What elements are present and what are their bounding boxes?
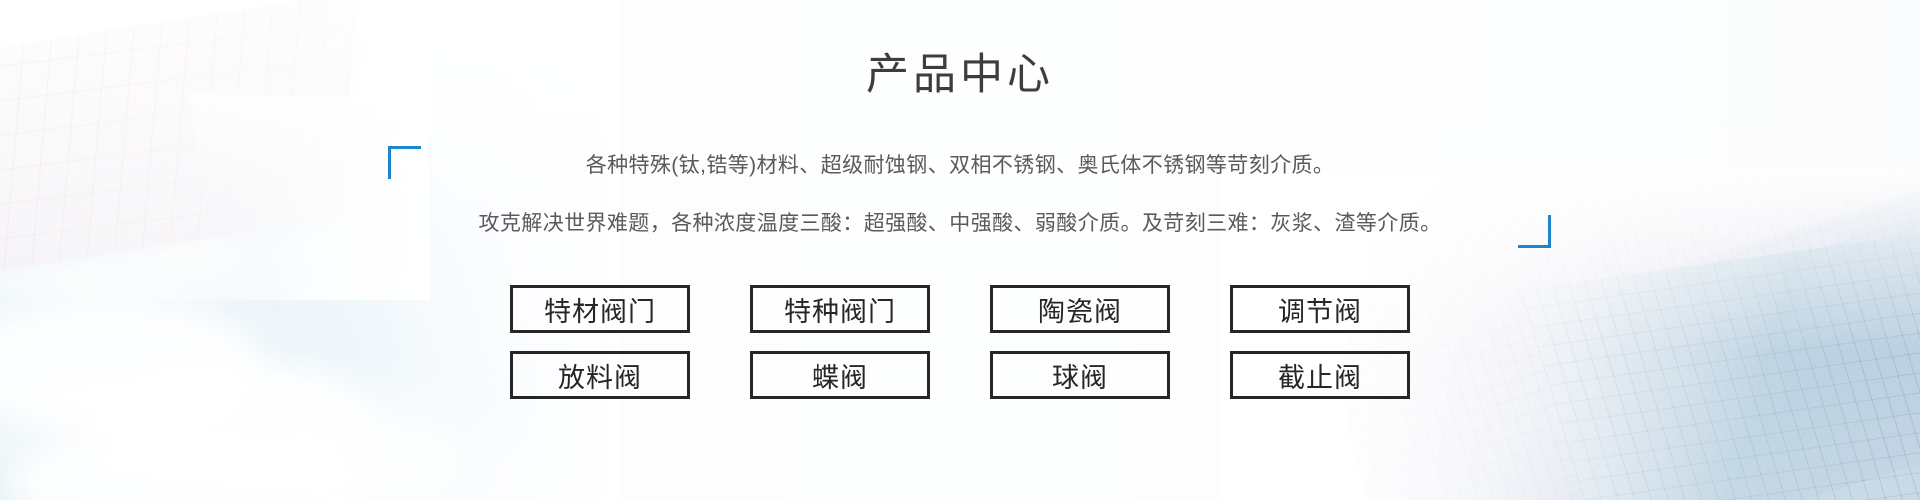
category-button-grid: 特材阀门 特种阀门 陶瓷阀 调节阀 放料阀 蝶阀 球阀 截止阀	[0, 285, 1920, 399]
category-button-ball-valve[interactable]: 球阀	[990, 351, 1170, 399]
category-button-discharge-valve[interactable]: 放料阀	[510, 351, 690, 399]
banner-content: 产品中心 各种特殊(钛,锆等)材料、超级耐蚀钢、双相不锈钢、奥氏体不锈钢等苛刻介…	[0, 0, 1920, 500]
description-line-2: 攻克解决世界难题，各种浓度温度三酸：超强酸、中强酸、弱酸介质。及苛刻三难：灰浆、…	[0, 204, 1920, 244]
description-block: 各种特殊(钛,锆等)材料、超级耐蚀钢、双相不锈钢、奥氏体不锈钢等苛刻介质。 攻克…	[0, 146, 1920, 244]
category-button-control-valve[interactable]: 调节阀	[1230, 285, 1410, 333]
category-button-globe-valve[interactable]: 截止阀	[1230, 351, 1410, 399]
category-row-1: 特材阀门 特种阀门 陶瓷阀 调节阀	[510, 285, 1410, 333]
description-line-1: 各种特殊(钛,锆等)材料、超级耐蚀钢、双相不锈钢、奥氏体不锈钢等苛刻介质。	[0, 146, 1920, 186]
category-button-butterfly-valve[interactable]: 蝶阀	[750, 351, 930, 399]
category-row-2: 放料阀 蝶阀 球阀 截止阀	[510, 351, 1410, 399]
product-center-banner: 产品中心 各种特殊(钛,锆等)材料、超级耐蚀钢、双相不锈钢、奥氏体不锈钢等苛刻介…	[0, 0, 1920, 500]
category-button-ceramic-valve[interactable]: 陶瓷阀	[990, 285, 1170, 333]
category-button-special-type-valve[interactable]: 特种阀门	[750, 285, 930, 333]
page-title: 产品中心	[0, 46, 1920, 104]
category-button-special-material-valve[interactable]: 特材阀门	[510, 285, 690, 333]
